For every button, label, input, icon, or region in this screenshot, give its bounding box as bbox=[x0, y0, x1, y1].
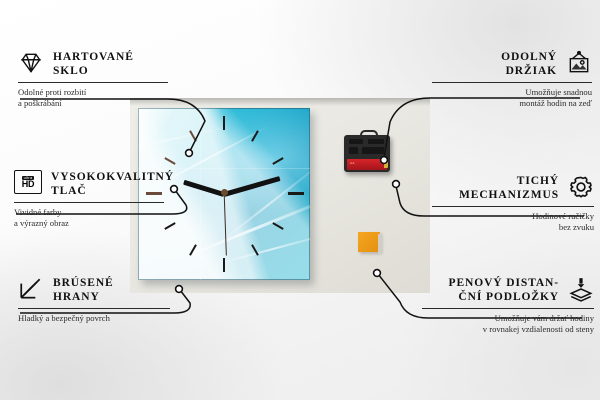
feature-polished-edges: BRÚSENÉ HRANY Hladký a bezpečný povrch bbox=[18, 276, 170, 324]
battery-label: AA bbox=[350, 161, 355, 165]
feature-title: VYSOKOKVALITNÝ bbox=[51, 170, 174, 184]
divider bbox=[432, 206, 594, 207]
feature-title-2: DRŽIAK bbox=[501, 64, 557, 78]
product-infographic: AA bbox=[0, 0, 600, 400]
feature-sub-1: Vividné farby bbox=[14, 207, 174, 218]
feature-title-2: HRANY bbox=[53, 290, 114, 304]
polished-edges-icon bbox=[18, 276, 44, 302]
divider bbox=[18, 308, 170, 309]
feature-title-2: MECHANIZMUS bbox=[459, 188, 559, 202]
divider bbox=[432, 82, 592, 83]
feature-sub-1: Umožňuje snadnou bbox=[432, 87, 592, 98]
feature-sub-2: montáž hodin na zeď bbox=[432, 98, 592, 109]
clock-center-pin bbox=[221, 189, 228, 196]
foam-pad-edge bbox=[378, 234, 382, 254]
feature-title: HARTOVANÉ bbox=[53, 50, 134, 64]
feature-title: BRÚSENÉ bbox=[53, 276, 114, 290]
feature-sub-1: Hodinové ručičky bbox=[432, 211, 594, 222]
clock-mechanism: AA bbox=[344, 130, 390, 172]
foam-spacer-pad bbox=[358, 232, 380, 252]
foam-pad-icon bbox=[568, 276, 594, 302]
feature-foam-spacers: PENOVÝ DISTAN- ČNÍ PODLOŽKY Umožňuje vám… bbox=[422, 276, 594, 335]
feature-title: TICHÝ bbox=[459, 174, 559, 188]
feature-high-quality-print: ultra HD VYSOKOKVALITNÝ TLAČ Vividné far… bbox=[14, 170, 174, 229]
diamond-icon bbox=[18, 50, 44, 76]
feature-sub-2: bez zvuku bbox=[432, 222, 594, 233]
feature-title: ODOLNÝ bbox=[501, 50, 557, 64]
feature-durable-hanger: ODOLNÝ DRŽIAK Umožňuje snadnou montáž ho… bbox=[432, 50, 592, 109]
divider bbox=[14, 202, 164, 203]
feature-sub-1: Odolné proti rozbití bbox=[18, 87, 168, 98]
battery-terminal bbox=[384, 161, 388, 168]
wall-top-shadow bbox=[130, 98, 430, 106]
feature-title-2: ČNÍ PODLOŽKY bbox=[449, 290, 559, 304]
feature-hardened-glass: HARTOVANÉ SKLO Odolné proti rozbití a po… bbox=[18, 50, 168, 109]
feature-sub-2: a výrazný obraz bbox=[14, 218, 174, 229]
feature-sub-2: v rovnakej vzdialenosti od steny bbox=[422, 324, 594, 335]
picture-hanger-icon bbox=[566, 50, 592, 76]
ultra-hd-icon-big-text: HD bbox=[22, 180, 34, 189]
ultra-hd-icon: ultra HD bbox=[14, 170, 42, 194]
feature-sub-1: Hladký a bezpečný povrch bbox=[18, 313, 170, 324]
feature-title-2: SKLO bbox=[53, 64, 134, 78]
gear-icon bbox=[568, 174, 594, 200]
feature-sub-2: a poškrábání bbox=[18, 98, 168, 109]
feature-sub-1: Umožňuje vám držať hodiny bbox=[422, 313, 594, 324]
product-photo: AA bbox=[130, 98, 430, 293]
divider bbox=[422, 308, 594, 309]
mechanism-body: AA bbox=[344, 135, 390, 172]
divider bbox=[18, 82, 168, 83]
feature-title-2: TLAČ bbox=[51, 184, 174, 198]
feature-title: PENOVÝ DISTAN- bbox=[449, 276, 559, 290]
feature-silent-mechanism: TICHÝ MECHANIZMUS Hodinové ručičky bez z… bbox=[432, 174, 594, 233]
